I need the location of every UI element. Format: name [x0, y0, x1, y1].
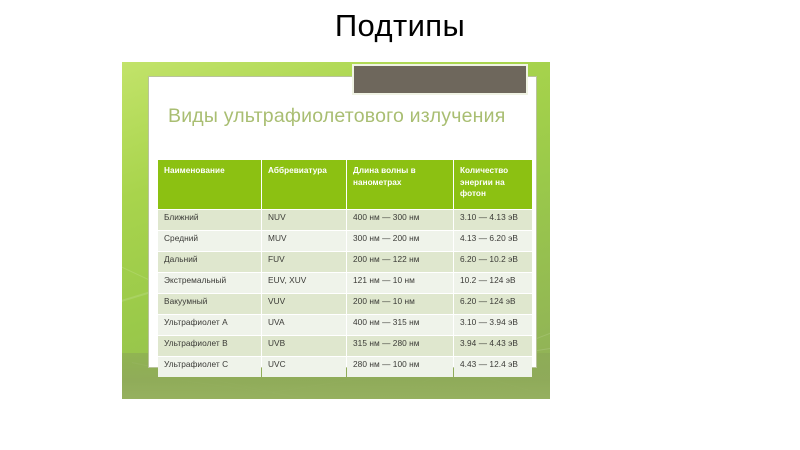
- image-placeholder-block: [352, 64, 528, 95]
- cell-abbr: UVB: [262, 336, 346, 356]
- cell-name: Средний: [158, 231, 261, 251]
- table-row: ВакуумныйVUV200 нм — 10 нм6.20 — 124 эВ: [158, 294, 532, 314]
- table-row: Ультрафиолет AUVA400 нм — 315 нм3.10 — 3…: [158, 315, 532, 335]
- cell-name: Ультрафиолет B: [158, 336, 261, 356]
- cell-wavelength: 400 нм — 300 нм: [347, 210, 453, 230]
- cell-energy: 6.20 — 124 эВ: [454, 294, 532, 314]
- cell-abbr: UVC: [262, 357, 346, 377]
- cell-energy: 10.2 — 124 эВ: [454, 273, 532, 293]
- slide-title: Подтипы: [0, 4, 800, 48]
- cell-energy: 3.94 — 4.43 эВ: [454, 336, 532, 356]
- cell-abbr: UVA: [262, 315, 346, 335]
- cell-wavelength: 200 нм — 10 нм: [347, 294, 453, 314]
- column-header-energy: Количество энергии на фотон: [454, 160, 532, 209]
- cell-energy: 6.20 — 10.2 эВ: [454, 252, 532, 272]
- cell-abbr: MUV: [262, 231, 346, 251]
- cell-name: Экстремальный: [158, 273, 261, 293]
- cell-abbr: NUV: [262, 210, 346, 230]
- cell-name: Ультрафиолет C: [158, 357, 261, 377]
- column-header-wave: Длина волны в нанометрах: [347, 160, 453, 209]
- table-row: ДальнийFUV200 нм — 122 нм6.20 — 10.2 эВ: [158, 252, 532, 272]
- cell-wavelength: 200 нм — 122 нм: [347, 252, 453, 272]
- table-body: БлижнийNUV400 нм — 300 нм3.10 — 4.13 эВС…: [158, 210, 532, 377]
- cell-wavelength: 121 нм — 10 нм: [347, 273, 453, 293]
- cell-name: Вакуумный: [158, 294, 261, 314]
- cell-energy: 3.10 — 4.13 эВ: [454, 210, 532, 230]
- column-header-name: Наименование: [158, 160, 261, 209]
- cell-abbr: FUV: [262, 252, 346, 272]
- uv-types-table: Наименование Аббревиатура Длина волны в …: [157, 159, 533, 378]
- cell-energy: 3.10 — 3.94 эВ: [454, 315, 532, 335]
- cell-energy: 4.13 — 6.20 эВ: [454, 231, 532, 251]
- cell-name: Ближний: [158, 210, 261, 230]
- cell-wavelength: 300 нм — 200 нм: [347, 231, 453, 251]
- table-row: БлижнийNUV400 нм — 300 нм3.10 — 4.13 эВ: [158, 210, 532, 230]
- table-header-row: Наименование Аббревиатура Длина волны в …: [158, 160, 532, 209]
- column-header-abbr: Аббревиатура: [262, 160, 346, 209]
- table-row: Ультрафиолет BUVB315 нм — 280 нм3.94 — 4…: [158, 336, 532, 356]
- cell-wavelength: 315 нм — 280 нм: [347, 336, 453, 356]
- table-header: Наименование Аббревиатура Длина волны в …: [158, 160, 532, 209]
- cell-abbr: VUV: [262, 294, 346, 314]
- cell-name: Ультрафиолет A: [158, 315, 261, 335]
- card-heading: Виды ультрафиолетового излучения: [168, 104, 508, 128]
- table-row: СреднийMUV300 нм — 200 нм4.13 — 6.20 эВ: [158, 231, 532, 251]
- cell-name: Дальний: [158, 252, 261, 272]
- cell-wavelength: 280 нм — 100 нм: [347, 357, 453, 377]
- table-row: Ультрафиолет CUVC280 нм — 100 нм4.43 — 1…: [158, 357, 532, 377]
- cell-abbr: EUV, XUV: [262, 273, 346, 293]
- cell-wavelength: 400 нм — 315 нм: [347, 315, 453, 335]
- table-row: ЭкстремальныйEUV, XUV121 нм — 10 нм10.2 …: [158, 273, 532, 293]
- cell-energy: 4.43 — 12.4 эВ: [454, 357, 532, 377]
